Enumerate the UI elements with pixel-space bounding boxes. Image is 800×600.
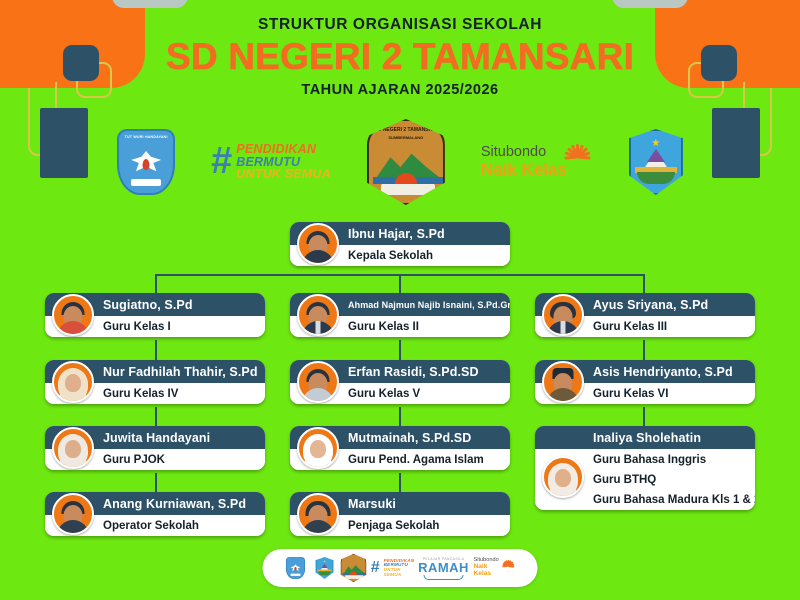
org-card-r1c2[interactable]: Ahmad Najmun Najib Isnaini, S.Pd.Gr Guru…	[290, 293, 510, 337]
avatar-body	[57, 520, 89, 535]
shield-inner-triangle	[322, 564, 328, 568]
avatar	[52, 427, 94, 469]
org-card-r3c1[interactable]: Juwita Handayani Guru PJOK	[45, 426, 265, 470]
pendidikan-bermutu-logo-small: # PENDIDIKAN BERMUTU UNTUK SEMUA	[372, 554, 414, 582]
header-subtitle: STRUKTUR ORGANISASI SEKOLAH	[0, 16, 800, 33]
star-icon: ★	[651, 138, 660, 149]
book-icon	[291, 574, 301, 576]
avatar	[297, 361, 339, 403]
footer-logo-bar: ★ # PENDIDIKAN	[263, 549, 538, 587]
avatar	[52, 294, 94, 336]
avatar-shirt	[316, 321, 321, 334]
avatar-body	[302, 250, 334, 265]
avatar-face	[65, 440, 81, 458]
corner-decor-grey-left	[112, 0, 188, 8]
flame-icon	[294, 567, 296, 571]
avatar	[542, 294, 584, 336]
avatar-face	[65, 374, 81, 392]
org-card-r4c2[interactable]: Marsuki Penjaga Sekolah	[290, 492, 510, 536]
avatar-face	[555, 469, 571, 487]
crest-green-base	[637, 172, 675, 184]
pb-line3: UNTUK SEMUA	[236, 168, 331, 181]
sd-negeri-2-tamansari-crest: SD NEGERI 2 TAMANSARI SUMBERMALANG	[367, 119, 445, 205]
avatar-body	[547, 388, 579, 403]
corner-decor-grey-right	[612, 0, 688, 8]
pb-line3: UNTUK SEMUA	[384, 568, 415, 577]
org-card-r4c1[interactable]: Anang Kurniawan, S.Pd Operator Sekolah	[45, 492, 265, 536]
tut-wuri-handayani-logo: TUT WURI HANDAYANI	[117, 129, 175, 195]
avatar	[297, 223, 339, 265]
avatar-face	[310, 440, 326, 458]
org-card-name: Inaliya Sholehatin	[535, 426, 755, 449]
crest-school-name: SD NEGERI 2 TAMANSARI	[369, 127, 443, 133]
org-card-r2c1[interactable]: Nur Fadhilah Thahir, S.Pd Guru Kelas IV	[45, 360, 265, 404]
situbondo-naik-kelas-logo: Situbondo Naik Kelas	[481, 142, 593, 182]
org-card-r2c3[interactable]: Asis Hendriyanto, S.Pd Guru Kelas VI	[535, 360, 755, 404]
header-academic-year: TAHUN AJARAN 2025/2026	[0, 82, 800, 98]
situbondo-naik-kelas-logo-small: Situbondo Naik Kelas	[474, 554, 516, 582]
pendidikan-bermutu-untuk-semua-logo: # PENDIDIKAN BERMUTU UNTUK SEMUA	[211, 143, 331, 181]
org-card-r3c2[interactable]: Mutmainah, S.Pd.SD Guru Pend. Agama Isla…	[290, 426, 510, 470]
poster-header: STRUKTUR ORGANISASI SEKOLAH SD NEGERI 2 …	[0, 16, 800, 98]
shield-inner-triangle	[647, 149, 665, 162]
kabupaten-situbondo-crest-small: ★	[314, 554, 336, 582]
sunburst-icon	[563, 142, 593, 172]
logo-row: TUT WURI HANDAYANI # PENDIDIKAN BERMUTU …	[0, 120, 800, 204]
org-card-r1c3[interactable]: Ayus Sriyana, S.Pd Guru Kelas III	[535, 293, 755, 337]
snk-line2: Naik Kelas	[481, 161, 567, 179]
avatar-body	[57, 321, 89, 336]
kabupaten-situbondo-crest: ★	[629, 129, 683, 195]
book-icon	[131, 179, 161, 186]
ramah-smile-icon	[424, 575, 464, 580]
pb-line1: PENDIDIKAN	[236, 143, 331, 156]
snk-line1: Situbondo	[481, 145, 567, 160]
org-card-head[interactable]: Ibnu Hajar, S.Pd Kepala Sekolah	[290, 222, 510, 266]
tut-wuri-handayani-logo-small	[285, 554, 307, 582]
avatar	[297, 427, 339, 469]
book-icon	[381, 184, 435, 195]
sd-negeri-2-tamansari-crest-small	[343, 554, 365, 582]
connector-horizontal-bus	[155, 274, 645, 276]
avatar	[297, 493, 339, 535]
poster-canvas: STRUKTUR ORGANISASI SEKOLAH SD NEGERI 2 …	[0, 0, 800, 600]
avatar	[542, 361, 584, 403]
hash-icon: #	[371, 561, 380, 574]
org-card-r2c2[interactable]: Erfan Rasidi, S.Pd.SD Guru Kelas V	[290, 360, 510, 404]
sunburst-icon	[502, 559, 516, 573]
crest-green-base	[318, 571, 331, 575]
org-card-r1c1[interactable]: Sugiatno, S.Pd Guru Kelas I	[45, 293, 265, 337]
avatar-body	[302, 520, 334, 535]
avatar	[52, 493, 94, 535]
book-icon	[345, 575, 363, 579]
flame-icon	[143, 159, 150, 170]
avatar-body	[302, 388, 334, 403]
hash-icon: #	[211, 146, 232, 177]
page-title: SD NEGERI 2 TAMANSARI	[0, 36, 800, 77]
avatar	[52, 361, 94, 403]
crest-subdistrict: SUMBERMALANG	[369, 135, 443, 140]
avatar-shirt	[561, 321, 566, 334]
org-card-r3c3[interactable]: Inaliya Sholehatin Guru Bahasa Inggris G…	[535, 426, 755, 510]
avatar	[542, 456, 584, 498]
tut-wuri-caption: TUT WURI HANDAYANI	[119, 135, 173, 139]
avatar	[297, 294, 339, 336]
ramah-wordmark: RAMAH	[418, 561, 469, 574]
ramah-logo: PELAJAR PANCASILA RAMAH	[421, 554, 467, 582]
